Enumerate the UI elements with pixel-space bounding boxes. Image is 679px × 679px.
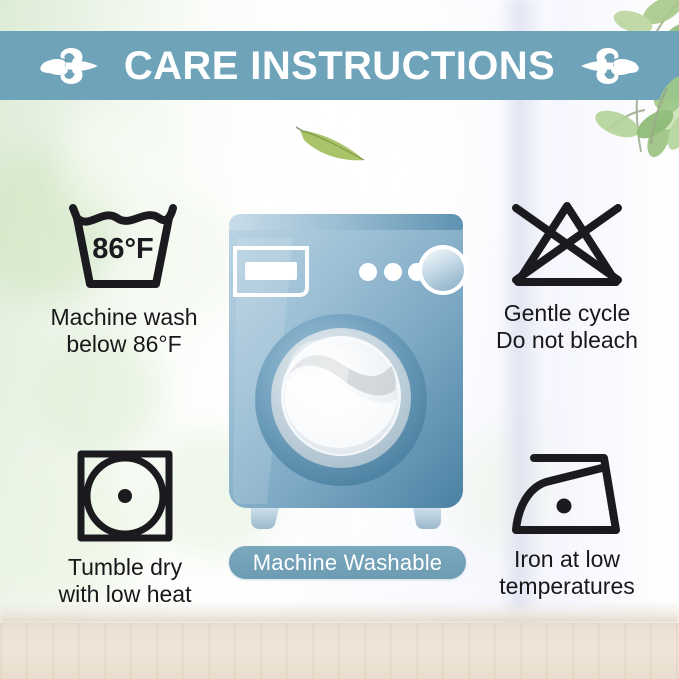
wooden-surface <box>0 623 679 679</box>
machine-feet <box>251 508 441 529</box>
page-title: CARE INSTRUCTIONS <box>124 46 555 86</box>
wash-tub-icon: 86°F <box>59 196 189 296</box>
care-symbol-label: Tumble dry with low heat <box>59 554 192 607</box>
care-symbol-iron-low: Iron at low temperatures <box>455 446 679 599</box>
triangle-crossed-out-icon <box>504 196 630 292</box>
heat-level-dot <box>118 489 132 503</box>
machine-door <box>255 314 427 486</box>
tumble-dry-low-icon <box>73 446 177 546</box>
heat-level-dot <box>557 499 572 514</box>
care-symbol-do-not-bleach: Gentle cycle Do not bleach <box>455 196 679 353</box>
iron-low-heat-icon <box>506 446 628 538</box>
care-symbol-tumble-dry-low: Tumble dry with low heat <box>14 446 236 607</box>
control-knob <box>418 245 468 295</box>
washing-machine-illustration <box>223 208 469 538</box>
care-instructions-infographic: CARE INSTRUCTIONS <box>0 0 679 679</box>
header-banner: CARE INSTRUCTIONS <box>0 31 679 100</box>
care-symbol-machine-wash: 86°F Machine wash below 86°F <box>10 196 238 357</box>
care-symbol-label: Machine wash below 86°F <box>50 304 197 357</box>
wash-temperature-value: 86°F <box>92 233 154 265</box>
badge-label: Machine Washable <box>253 550 442 576</box>
fleur-de-lis-icon <box>40 44 102 88</box>
fleur-de-lis-icon <box>577 44 639 88</box>
control-indicator-dots <box>359 263 426 281</box>
care-symbol-label: Iron at low temperatures <box>499 546 635 599</box>
care-symbol-label: Gentle cycle Do not bleach <box>496 300 638 353</box>
status-badge: Machine Washable <box>229 546 466 579</box>
